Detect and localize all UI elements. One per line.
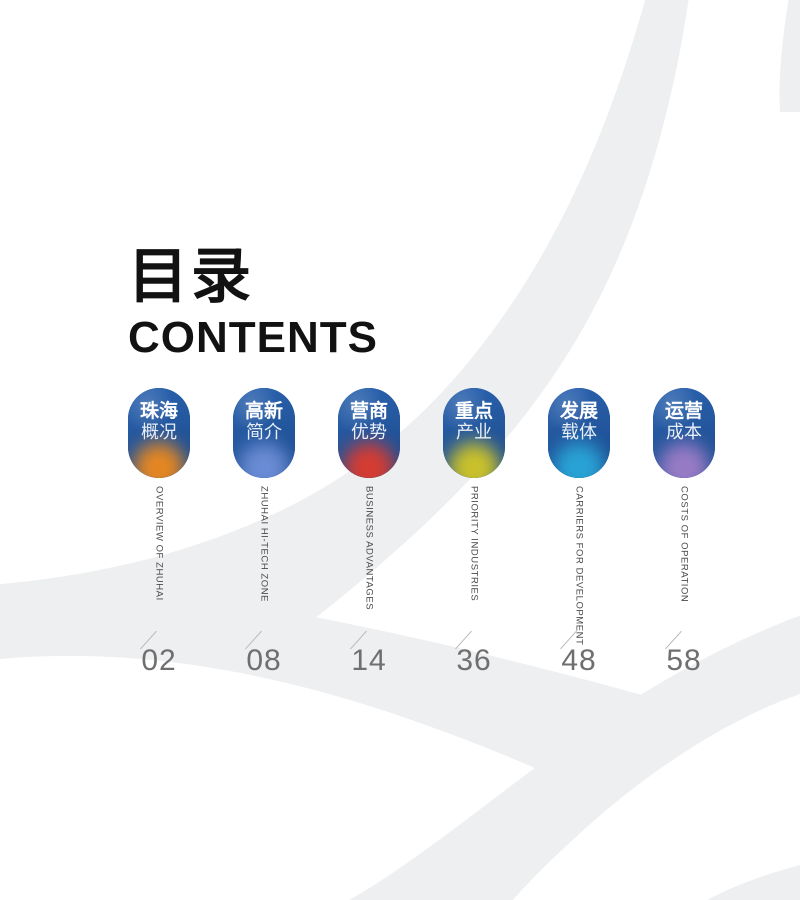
section-caption-en: CARRIERS FOR DEVELOPMENT xyxy=(574,486,585,645)
contents-item[interactable]: 营商 优势 BUSINESS ADVANTAGES 14 xyxy=(338,388,400,478)
pill-line1: 重点 xyxy=(455,401,493,422)
section-page-number: 08 xyxy=(227,644,301,678)
section-page-number: 14 xyxy=(332,644,406,678)
pill-text: 运营 成本 xyxy=(665,401,703,443)
contents-item[interactable]: 运营 成本 COSTS OF OPERATION 58 xyxy=(653,388,715,478)
pill-line2: 简介 xyxy=(245,423,283,443)
pill-glow xyxy=(448,442,500,478)
section-caption-en: OVERVIEW OF ZHUHAI xyxy=(154,486,165,601)
pill-line1: 发展 xyxy=(560,401,598,422)
contents-item[interactable]: 发展 载体 CARRIERS FOR DEVELOPMENT 48 xyxy=(548,388,610,478)
page-title-en: CONTENTS xyxy=(128,313,378,364)
pill-text: 珠海 概况 xyxy=(140,401,178,443)
pill-line2: 产业 xyxy=(455,423,493,443)
pill-line2: 成本 xyxy=(665,423,703,443)
page-title-cn: 目录 xyxy=(128,246,378,309)
pill-text: 发展 载体 xyxy=(560,401,598,443)
pill-line2: 载体 xyxy=(560,423,598,443)
section-page-number: 58 xyxy=(647,644,721,678)
pill-line2: 概况 xyxy=(140,423,178,443)
section-badge-pill[interactable]: 营商 优势 xyxy=(338,388,400,478)
section-page-number: 02 xyxy=(122,644,196,678)
section-page-number: 48 xyxy=(542,644,616,678)
pill-line2: 优势 xyxy=(350,423,388,443)
pill-line1: 营商 xyxy=(350,401,388,422)
section-caption-en: ZHUHAI HI-TECH ZONE xyxy=(259,486,270,602)
section-badge-pill[interactable]: 珠海 概况 xyxy=(128,388,190,478)
pill-glow xyxy=(343,442,395,478)
pill-glow xyxy=(553,442,605,478)
section-caption-en: PRIORITY INDUSTRIES xyxy=(469,486,480,601)
section-badge-pill[interactable]: 发展 载体 xyxy=(548,388,610,478)
swoosh-top-right-edge xyxy=(779,0,800,112)
pill-text: 营商 优势 xyxy=(350,401,388,443)
pill-text: 高新 简介 xyxy=(245,401,283,443)
pill-line1: 珠海 xyxy=(140,401,178,422)
section-badge-pill[interactable]: 运营 成本 xyxy=(653,388,715,478)
pill-line1: 高新 xyxy=(245,401,283,422)
contents-item[interactable]: 高新 简介 ZHUHAI HI-TECH ZONE 08 xyxy=(233,388,295,478)
pill-glow xyxy=(238,442,290,478)
section-badge-pill[interactable]: 高新 简介 xyxy=(233,388,295,478)
section-page-number: 36 xyxy=(437,644,511,678)
pill-line1: 运营 xyxy=(665,401,703,422)
contents-item-list: 珠海 概况 OVERVIEW OF ZHUHAI 02 高新 简介 ZHUH xyxy=(0,388,800,708)
contents-item[interactable]: 重点 产业 PRIORITY INDUSTRIES 36 xyxy=(443,388,505,478)
section-badge-pill[interactable]: 重点 产业 xyxy=(443,388,505,478)
contents-page: 目录 CONTENTS 珠海 概况 OVERVIEW OF ZHUHAI 02 xyxy=(0,0,800,900)
pill-glow xyxy=(658,442,710,478)
contents-item[interactable]: 珠海 概况 OVERVIEW OF ZHUHAI 02 xyxy=(128,388,190,478)
section-caption-en: COSTS OF OPERATION xyxy=(679,486,690,602)
page-heading: 目录 CONTENTS xyxy=(128,246,378,364)
pill-glow xyxy=(133,442,185,478)
section-caption-en: BUSINESS ADVANTAGES xyxy=(364,486,375,610)
pill-text: 重点 产业 xyxy=(455,401,493,443)
